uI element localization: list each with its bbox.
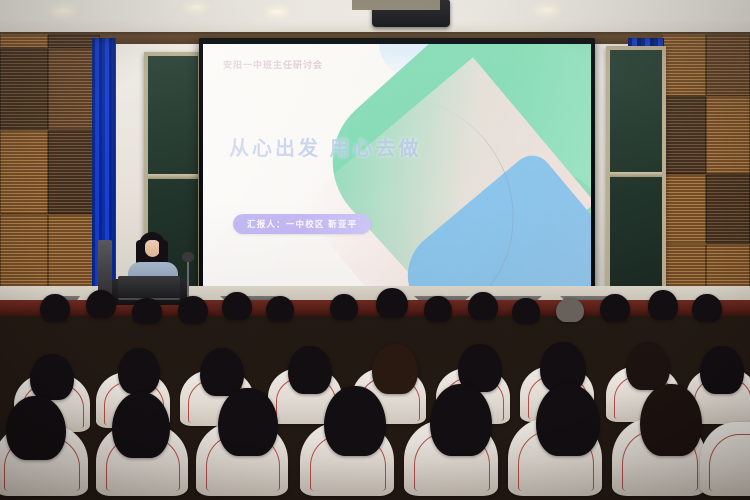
audience-head bbox=[132, 298, 162, 324]
audience-head bbox=[430, 384, 492, 456]
audience-head bbox=[222, 292, 252, 320]
audience-area bbox=[0, 288, 750, 500]
audience-head bbox=[288, 346, 332, 394]
slide-title: 从心出发 用心去做 bbox=[229, 132, 422, 161]
wood-panel bbox=[0, 130, 48, 214]
audience-head bbox=[118, 348, 160, 394]
audience-head bbox=[424, 296, 452, 322]
presenter-face bbox=[145, 240, 160, 257]
screen-mount bbox=[352, 0, 440, 10]
audience-head bbox=[626, 342, 670, 390]
presentation-slide[interactable]: 安阳一中班主任研讨会 从心出发 用心去做 汇报人：一中校区 靳亚平 bbox=[203, 44, 591, 289]
audience-head bbox=[640, 384, 702, 456]
projection-screen[interactable]: 安阳一中班主任研讨会 从心出发 用心去做 汇报人：一中校区 靳亚平 bbox=[203, 44, 591, 289]
wood-panel bbox=[662, 34, 706, 96]
ceiling-downlight bbox=[268, 8, 286, 15]
chalkboard-divider bbox=[148, 174, 198, 179]
chalkboard-divider bbox=[610, 172, 662, 177]
wood-panel bbox=[662, 174, 706, 244]
audience-head bbox=[556, 298, 584, 322]
wood-panel bbox=[706, 34, 750, 96]
wood-panel bbox=[662, 96, 706, 174]
wood-acoustic-wall-left bbox=[0, 34, 100, 302]
audience-head bbox=[178, 296, 208, 324]
wood-panel bbox=[706, 174, 750, 244]
audience-head bbox=[372, 344, 418, 394]
auditorium-scene: 安阳一中班主任研讨会 从心出发 用心去做 汇报人：一中校区 靳亚平 bbox=[0, 0, 750, 500]
ceiling-downlight bbox=[536, 5, 558, 14]
wood-panel bbox=[0, 34, 48, 48]
ceiling-downlight bbox=[186, 3, 206, 11]
audience-head bbox=[692, 294, 722, 322]
audience-head bbox=[324, 386, 386, 456]
audience-head bbox=[330, 294, 358, 320]
wood-acoustic-wall-right bbox=[662, 34, 750, 302]
wood-panel bbox=[706, 96, 750, 174]
chalkboard-right bbox=[606, 46, 666, 296]
audience-head bbox=[512, 298, 540, 324]
audience-head bbox=[266, 296, 294, 322]
audience-head bbox=[600, 294, 630, 322]
ceiling-downlight bbox=[52, 6, 74, 15]
audience-head bbox=[700, 346, 744, 394]
audience-head bbox=[6, 396, 66, 460]
audience-head bbox=[468, 292, 498, 320]
audience-head bbox=[218, 388, 278, 456]
audience-head bbox=[112, 392, 170, 458]
audience-head bbox=[86, 290, 116, 318]
audience-seat bbox=[700, 422, 750, 496]
audience-head bbox=[40, 294, 70, 322]
audience-head bbox=[376, 288, 408, 318]
slide-presenter-badge: 汇报人：一中校区 靳亚平 bbox=[233, 214, 371, 234]
audience-head bbox=[30, 354, 74, 400]
slide-eyebrow-text: 安阳一中班主任研讨会 bbox=[223, 58, 323, 71]
wood-panel bbox=[0, 48, 48, 130]
microphone-head bbox=[182, 252, 194, 262]
audience-head bbox=[536, 384, 600, 456]
audience-head bbox=[648, 290, 678, 320]
